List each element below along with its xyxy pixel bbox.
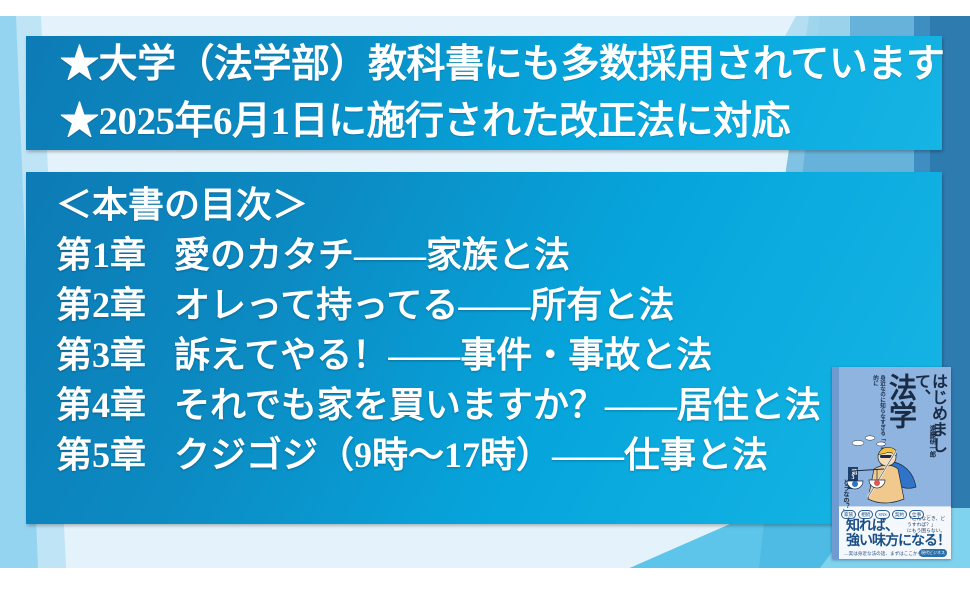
- toc-item-2-title: オレって持ってる――所有と法: [174, 285, 674, 325]
- toc-item-4: 第4章それでも家を買いますか？――居住と法: [56, 380, 942, 430]
- toc-item-2: 第2章オレって持ってる――所有と法: [56, 280, 942, 330]
- book-note-line-1: 「こんなとき、どうすれば？」: [907, 517, 947, 529]
- toc-item-3-number: 第3章: [56, 330, 174, 380]
- toc-item-1: 第1章愛のカタチ――家族と法: [56, 230, 942, 280]
- top-white-margin: [0, 0, 970, 16]
- toc-item-1-number: 第1章: [56, 230, 174, 280]
- toc-text-block: ＜本書の目次＞ 第1章愛のカタチ――家族と法 第2章オレって持ってる――所有と法…: [26, 172, 942, 480]
- book-tag-3: 契約: [892, 510, 907, 519]
- table-of-contents-panel: 身近なのに知らなすぎる「これって法的に はじめまして、 法学 遠藤研一郎 第3版…: [26, 172, 942, 524]
- bottom-white-margin: [0, 568, 970, 601]
- book-tag-1: 相続: [858, 510, 873, 519]
- toc-item-2-number: 第2章: [56, 280, 174, 330]
- highlight-banner: ★大学（法学部）教科書にも多数採用されています ★2025年6月1日に施行された…: [26, 36, 942, 150]
- book-footer-text: ―実は身近な法の話、まずはここから―: [844, 551, 927, 557]
- book-tag-2: SNS: [875, 510, 889, 519]
- toc-item-1-title: 愛のカタチ――家族と法: [174, 235, 570, 275]
- banner-line-1: ★大学（法学部）教科書にも多数採用されています: [26, 36, 942, 93]
- slide-canvas: ★大学（法学部）教科書にも多数採用されています ★2025年6月1日に施行された…: [0, 0, 970, 601]
- book-catch-line-2: 強い味方になる！: [846, 534, 941, 549]
- toc-item-3: 第3章訴えてやる！――事件・事故と法: [56, 330, 942, 380]
- book-tag-0: 家族: [841, 510, 856, 519]
- toc-item-4-title: それでも家を買いますか？――居住と法: [174, 385, 821, 425]
- book-note: 「こんなとき、どうすれば？」 にもう困らない。: [907, 517, 947, 535]
- book-publisher-badge: 現代ビジネス: [919, 549, 947, 557]
- book-note-line-2: にもう困らない。: [907, 529, 947, 535]
- banner-line-2: ★2025年6月1日に施行された改正法に対応: [26, 93, 942, 150]
- toc-item-5-number: 第5章: [56, 430, 174, 480]
- toc-heading: ＜本書の目次＞: [56, 180, 942, 230]
- toc-item-3-title: 訴えてやる！――事件・事故と法: [174, 335, 712, 375]
- toc-item-5-title: クジゴジ（9時〜17時）――仕事と法: [174, 435, 768, 475]
- toc-item-4-number: 第4章: [56, 380, 174, 430]
- toc-item-5: 第5章クジゴジ（9時〜17時）――仕事と法: [56, 430, 942, 480]
